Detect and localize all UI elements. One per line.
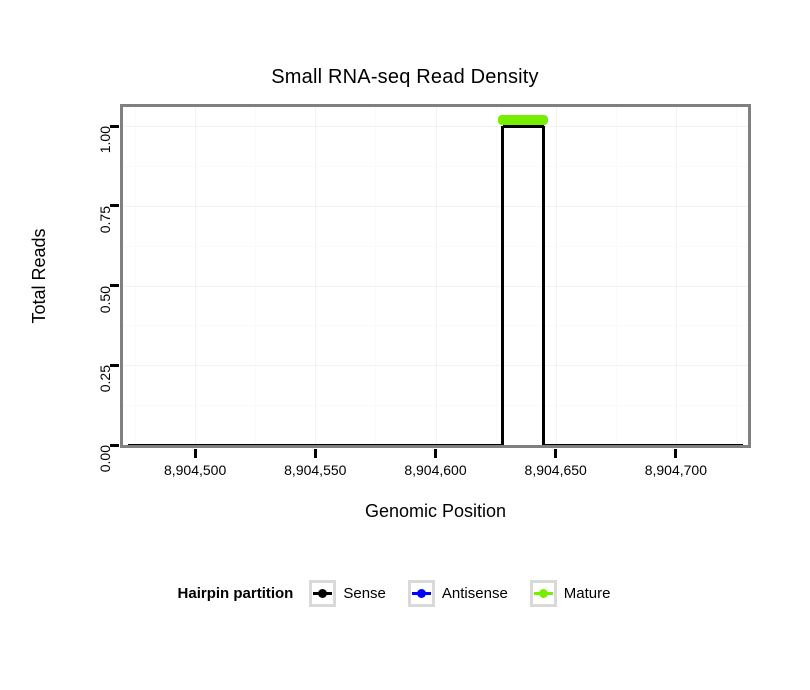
gridline-vertical xyxy=(736,107,737,445)
x-axis-tick xyxy=(314,449,317,458)
series-sense-segment xyxy=(501,126,504,445)
chart-canvas: Small RNA-seq Read Density Total Reads 0… xyxy=(0,0,810,690)
gridline-horizontal xyxy=(123,126,748,127)
x-axis-tick-label: 8,904,650 xyxy=(496,462,616,478)
legend-key-swatch xyxy=(408,580,435,607)
point-marker-icon xyxy=(539,589,548,598)
plot-panel xyxy=(120,104,751,448)
legend-key-swatch xyxy=(530,580,557,607)
gridline-vertical xyxy=(195,107,196,445)
x-axis-tick-label: 8,904,500 xyxy=(135,462,255,478)
series-sense-segment xyxy=(542,126,545,445)
legend: Hairpin partition SenseAntisenseMature xyxy=(0,580,810,607)
gridline-vertical xyxy=(556,107,557,445)
legend-key-swatch xyxy=(309,580,336,607)
legend-items: SenseAntisenseMature xyxy=(309,580,632,607)
x-axis-tick xyxy=(674,449,677,458)
plot-area xyxy=(123,107,748,445)
x-axis-tick xyxy=(194,449,197,458)
gridline-horizontal xyxy=(123,365,748,366)
y-axis-tick-label: 0.75 xyxy=(97,206,113,251)
gridline-vertical xyxy=(135,107,136,445)
legend-item-label: Antisense xyxy=(442,585,508,602)
x-axis-tick-label: 8,904,700 xyxy=(616,462,736,478)
chart-title: Small RNA-seq Read Density xyxy=(0,64,810,90)
gridline-horizontal xyxy=(123,405,748,406)
y-axis-tick-label: 0.00 xyxy=(97,445,113,490)
x-axis-tick xyxy=(554,449,557,458)
y-axis-tick-label: 1.00 xyxy=(97,126,113,171)
series-sense-segment xyxy=(544,444,744,446)
x-axis-tick xyxy=(434,449,437,458)
series-mature-segment xyxy=(498,115,548,125)
point-marker-icon xyxy=(417,589,426,598)
legend-item-antisense[interactable]: Antisense xyxy=(408,580,522,607)
legend-item-label: Mature xyxy=(564,585,611,602)
legend-item-mature[interactable]: Mature xyxy=(530,580,625,607)
gridline-horizontal xyxy=(123,246,748,247)
y-axis-tick-label: 0.50 xyxy=(97,286,113,331)
gridline-vertical xyxy=(375,107,376,445)
series-sense-segment xyxy=(128,444,503,446)
legend-title: Hairpin partition xyxy=(178,585,294,602)
y-axis-tick-label: 0.25 xyxy=(97,365,113,410)
legend-item-label: Sense xyxy=(343,585,386,602)
gridline-vertical xyxy=(616,107,617,445)
x-axis-title: Genomic Position xyxy=(120,500,751,522)
gridline-horizontal xyxy=(123,325,748,326)
gridline-vertical xyxy=(496,107,497,445)
point-marker-icon xyxy=(318,589,327,598)
gridline-vertical xyxy=(315,107,316,445)
gridline-vertical xyxy=(255,107,256,445)
gridline-vertical xyxy=(676,107,677,445)
legend-item-sense[interactable]: Sense xyxy=(309,580,400,607)
x-axis-tick-label: 8,904,550 xyxy=(255,462,375,478)
gridline-horizontal xyxy=(123,286,748,287)
y-axis-title: Total Reads xyxy=(28,104,50,448)
series-sense-segment xyxy=(503,125,544,128)
x-axis-tick-label: 8,904,600 xyxy=(376,462,496,478)
gridline-horizontal xyxy=(123,206,748,207)
gridline-vertical xyxy=(436,107,437,445)
gridline-horizontal xyxy=(123,166,748,167)
